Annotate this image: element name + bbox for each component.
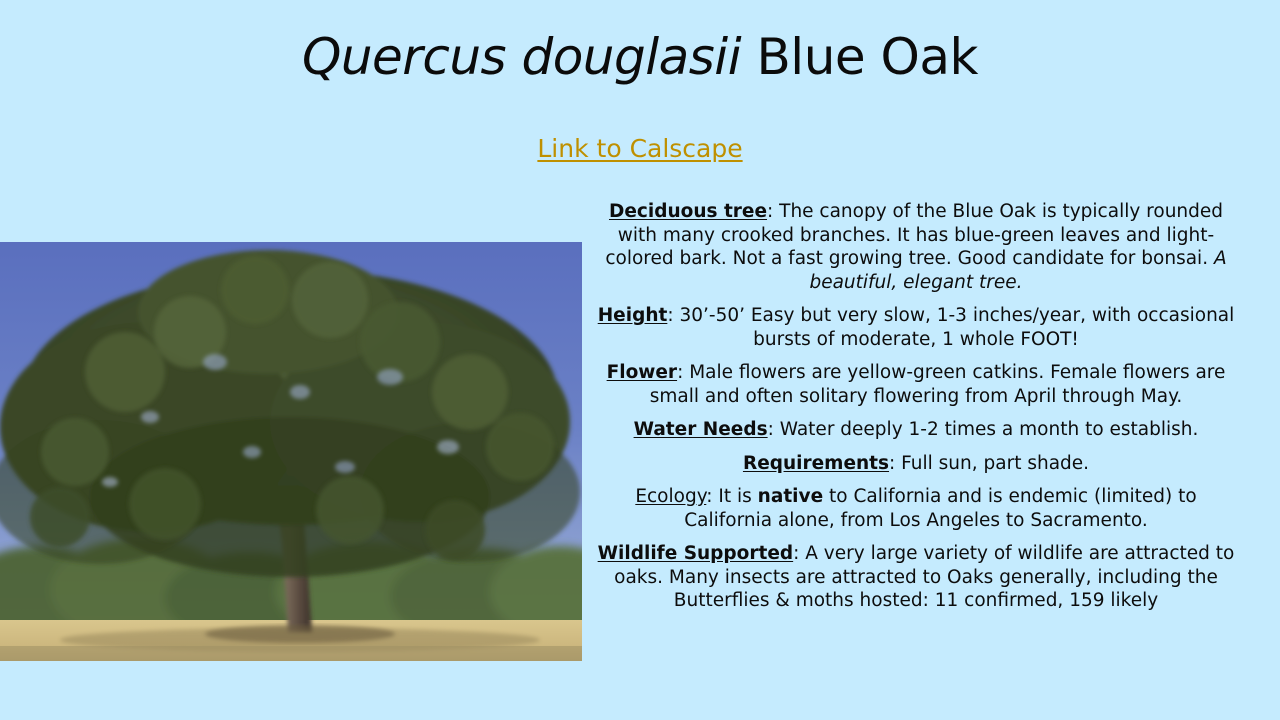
info-label-flower: Flower <box>607 362 677 383</box>
info-label-water-needs: Water Needs <box>634 419 768 440</box>
info-separator: : <box>767 201 779 222</box>
info-item-flower: Flower: Male flowers are yellow-green ca… <box>592 361 1240 408</box>
info-item-deciduous-tree: Deciduous tree: The canopy of the Blue O… <box>592 200 1240 294</box>
info-item-requirements: Requirements: Full sun, part shade. <box>592 452 1240 476</box>
info-separator: : <box>793 543 805 564</box>
info-item-water-needs: Water Needs: Water deeply 1-2 times a mo… <box>592 418 1240 442</box>
info-label-height: Height <box>598 305 668 326</box>
title-common-name: Blue Oak <box>741 28 978 86</box>
info-label-wildlife-supported: Wildlife Supported <box>598 543 794 564</box>
calscape-link[interactable]: Link to Calscape <box>537 134 742 163</box>
info-item-wildlife-supported: Wildlife Supported: A very large variety… <box>592 542 1240 613</box>
info-separator: : <box>677 362 689 383</box>
info-item-ecology: Ecology: It is native to California and … <box>592 485 1240 532</box>
info-separator: : <box>667 305 679 326</box>
info-label-deciduous-tree: Deciduous tree <box>609 201 767 222</box>
link-row: Link to Calscape <box>0 134 1280 163</box>
info-body-ecology-native: native <box>758 486 823 507</box>
info-body-water-needs: Water deeply 1-2 times a month to establ… <box>780 419 1199 440</box>
info-body-requirements: Full sun, part shade. <box>901 453 1089 474</box>
plant-info-list: Deciduous tree: The canopy of the Blue O… <box>592 200 1240 613</box>
title-genus-species: Quercus douglasii <box>302 28 741 86</box>
info-body-ecology-pre: It is <box>718 486 757 507</box>
info-separator: : <box>889 453 901 474</box>
info-item-height: Height: 30’-50’ Easy but very slow, 1-3 … <box>592 304 1240 351</box>
tree-photo-graphic <box>0 242 582 661</box>
slide-canvas: Quercus douglasii Blue Oak Link to Calsc… <box>0 0 1280 720</box>
info-separator: : <box>768 419 780 440</box>
title-common-name-text: Blue Oak <box>757 28 979 86</box>
page-title: Quercus douglasii Blue Oak <box>0 32 1280 82</box>
info-label-ecology: Ecology <box>635 486 706 507</box>
info-body-height: 30’-50’ Easy but very slow, 1-3 inches/y… <box>679 305 1234 350</box>
info-label-requirements: Requirements <box>743 453 889 474</box>
blue-oak-tree-photo <box>0 242 582 661</box>
info-separator: : <box>706 486 718 507</box>
info-body-flower: Male flowers are yellow-green catkins. F… <box>650 362 1226 407</box>
